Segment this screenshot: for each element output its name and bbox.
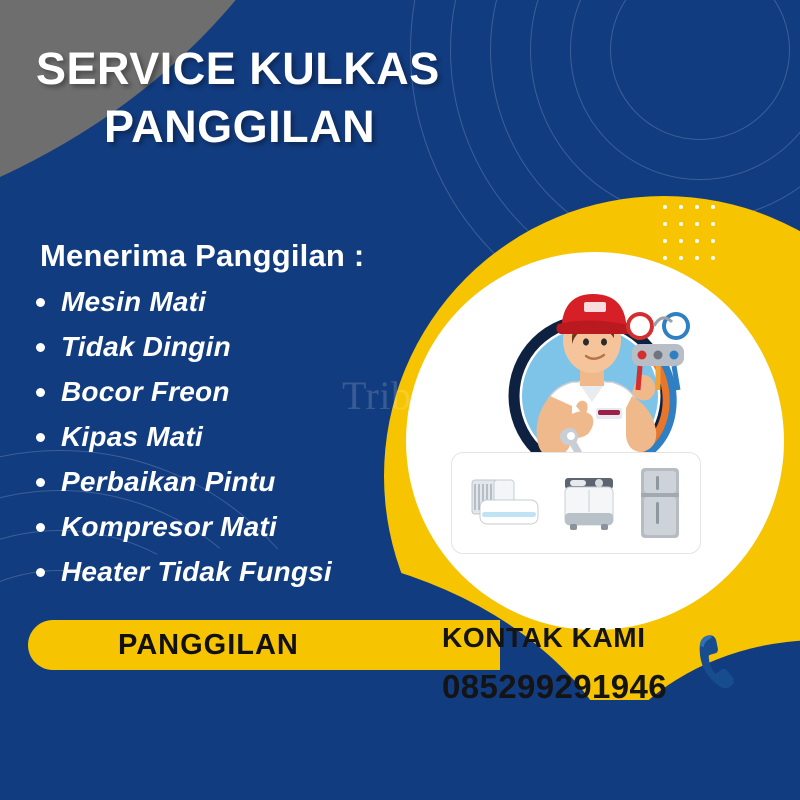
list-item: Perbaikan Pintu	[36, 468, 332, 496]
list-item: Heater Tidak Fungsi	[36, 558, 332, 586]
refrigerator-icon	[636, 464, 684, 542]
list-item-label: Kompresor Mati	[61, 513, 277, 541]
page-title: SERVICE KULKAS PANGGILAN	[36, 40, 506, 155]
technician-illustration	[480, 268, 710, 478]
bullet-dot-icon	[36, 568, 45, 577]
appliance-showcase-card	[451, 452, 701, 554]
list-item-label: Tidak Dingin	[61, 333, 231, 361]
bullet-dot-icon	[36, 478, 45, 487]
headline-line-1: SERVICE KULKAS	[36, 40, 506, 98]
illustration-circle	[406, 252, 784, 630]
washing-machine-icon	[559, 472, 619, 534]
list-item: Kipas Mati	[36, 423, 332, 451]
list-item: Bocor Freon	[36, 378, 332, 406]
bullet-dot-icon	[36, 343, 45, 352]
bullet-dot-icon	[36, 523, 45, 532]
bullet-dot-icon	[36, 433, 45, 442]
list-item-label: Bocor Freon	[61, 378, 230, 406]
panggilan-banner: PANGGILAN	[28, 620, 448, 670]
air-conditioner-icon	[468, 472, 542, 534]
list-item: Tidak Dingin	[36, 333, 332, 361]
dot-grid-icon	[663, 205, 727, 273]
bullet-dot-icon	[36, 388, 45, 397]
list-item: Mesin Mati	[36, 288, 332, 316]
contact-block: KONTAK KAMI 085299291946	[442, 622, 667, 706]
contact-label: KONTAK KAMI	[442, 622, 667, 654]
list-item-label: Perbaikan Pintu	[61, 468, 276, 496]
services-list: Mesin Mati Tidak Dingin Bocor Freon Kipa…	[36, 288, 332, 603]
panggilan-banner-label: PANGGILAN	[118, 629, 299, 662]
list-item-label: Heater Tidak Fungsi	[61, 558, 332, 586]
phone-handset-icon[interactable]	[688, 632, 734, 688]
poster-canvas: Tribun SERVICE KULKAS PANGGILAN Menerima…	[0, 0, 800, 800]
list-item-label: Kipas Mati	[61, 423, 203, 451]
list-item-label: Mesin Mati	[61, 288, 206, 316]
headline-line-2: PANGGILAN	[36, 98, 506, 156]
services-heading: Menerima Panggilan :	[40, 238, 364, 274]
bullet-dot-icon	[36, 298, 45, 307]
list-item: Kompresor Mati	[36, 513, 332, 541]
contact-phone-number[interactable]: 085299291946	[442, 668, 667, 706]
